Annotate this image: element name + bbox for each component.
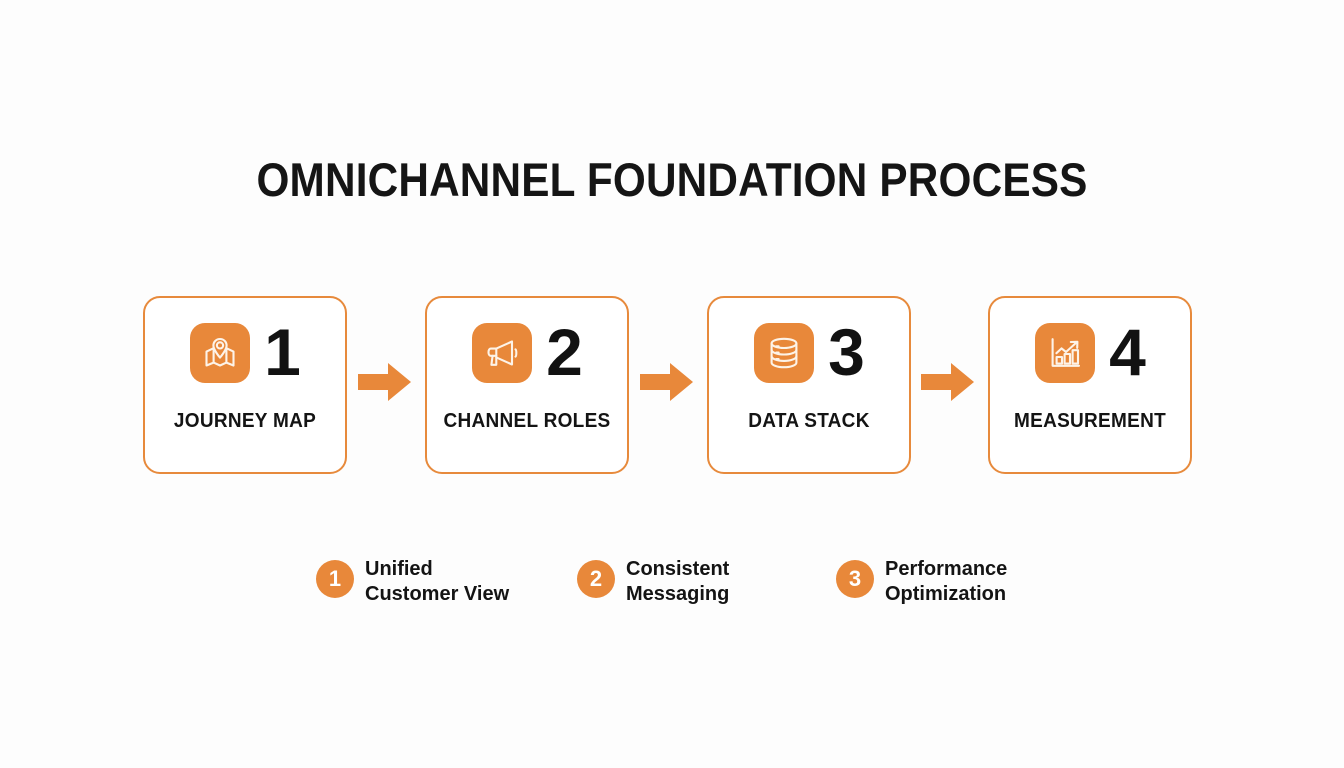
- step-card-header: 4: [990, 318, 1190, 388]
- step-label: DATA STACK: [714, 410, 904, 433]
- process-step-card[interactable]: 4 MEASUREMENT: [988, 296, 1192, 474]
- legend-label: Consistent Messaging: [626, 556, 729, 607]
- step-number: 2: [546, 319, 582, 385]
- benefits-legend: 1 Unified Customer View 2 Consistent Mes…: [316, 556, 1076, 612]
- legend-badge: 2: [577, 560, 615, 598]
- megaphone-icon: [472, 323, 532, 383]
- legend-badge: 3: [836, 560, 874, 598]
- step-label: MEASUREMENT: [995, 410, 1185, 433]
- legend-item[interactable]: 1 Unified Customer View: [316, 556, 509, 607]
- bar-chart-trend-icon: [1035, 323, 1095, 383]
- infographic-canvas: OMNICHANNEL FOUNDATION PROCESS: [0, 0, 1344, 768]
- step-card-header: 2: [427, 318, 627, 388]
- step-number: 1: [264, 319, 300, 385]
- process-step-card[interactable]: 3 DATA STACK: [707, 296, 911, 474]
- step-card-header: 1: [145, 318, 345, 388]
- legend-item[interactable]: 2 Consistent Messaging: [577, 556, 729, 607]
- page-title: OMNICHANNEL FOUNDATION PROCESS: [67, 152, 1277, 207]
- arrow-right-icon: [919, 360, 977, 404]
- step-label: CHANNEL ROLES: [432, 410, 622, 433]
- step-label: JOURNEY MAP: [150, 410, 340, 433]
- process-step-card[interactable]: 2 CHANNEL ROLES: [425, 296, 629, 474]
- step-number: 4: [1109, 319, 1145, 385]
- arrow-right-icon: [356, 360, 414, 404]
- legend-label: Unified Customer View: [365, 556, 509, 607]
- legend-item[interactable]: 3 Performance Optimization: [836, 556, 1007, 607]
- arrow-right-icon: [638, 360, 696, 404]
- legend-badge: 1: [316, 560, 354, 598]
- step-number: 3: [828, 319, 864, 385]
- step-card-header: 3: [709, 318, 909, 388]
- database-icon: [754, 323, 814, 383]
- legend-label: Performance Optimization: [885, 556, 1007, 607]
- map-pin-icon: [190, 323, 250, 383]
- process-step-row: 1 JOURNEY MAP 2 C: [143, 296, 1197, 478]
- process-step-card[interactable]: 1 JOURNEY MAP: [143, 296, 347, 474]
